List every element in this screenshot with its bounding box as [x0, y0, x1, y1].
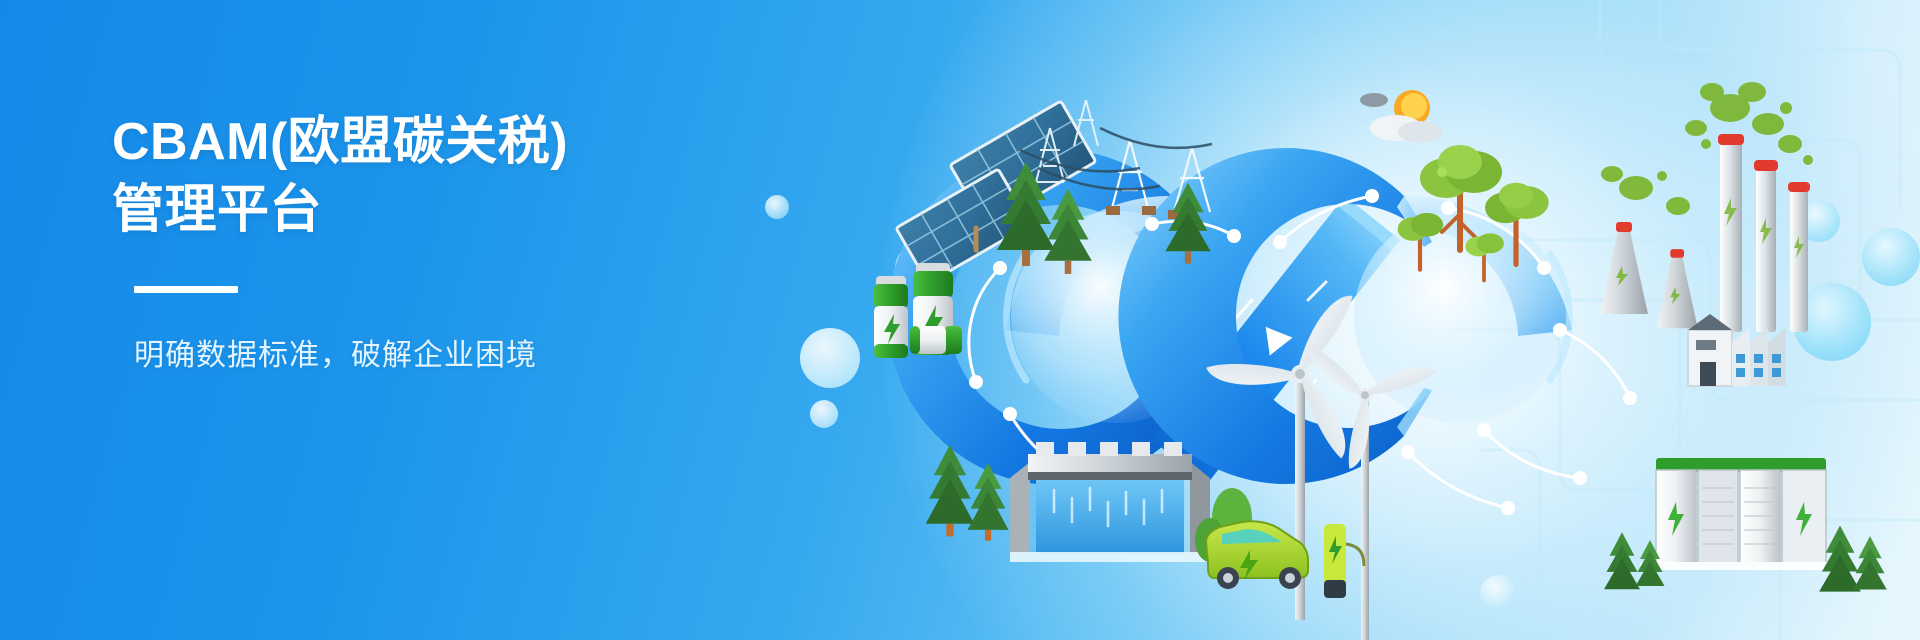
- bush: [1195, 518, 1225, 562]
- broadleaf-tree-cluster: [1398, 145, 1549, 281]
- bush: [1212, 488, 1252, 548]
- cbam-illustration: [800, 0, 1920, 640]
- page-title-line2: 管理平台: [112, 176, 812, 244]
- solar-panel-array: [896, 101, 1096, 312]
- electric-car: [1206, 521, 1364, 598]
- factory-cooling-towers: [1600, 222, 1698, 328]
- bokeh-circle: [1798, 200, 1840, 242]
- bokeh-circle: [1480, 575, 1516, 611]
- battery-storage-units: [1604, 458, 1887, 592]
- factory-building: [1688, 314, 1786, 386]
- connector-nodes: [969, 196, 1630, 508]
- ev-charging-post: [1324, 524, 1364, 598]
- ribbon-right-loop: [1118, 148, 1572, 484]
- page-title-line1: CBAM(欧盟碳关税): [112, 113, 568, 171]
- hydro-dam: [926, 442, 1252, 562]
- power-pylon: [1106, 140, 1210, 219]
- battery-pack: [874, 263, 962, 358]
- cbam-hero-banner: CBAM(欧盟碳关税) 管理平台 明确数据标准，破解企业困境: [0, 0, 1920, 640]
- hero-text-block: CBAM(欧盟碳关税) 管理平台 明确数据标准，破解企业困境: [112, 108, 812, 377]
- factory-smokestacks: [1718, 134, 1810, 332]
- connector-dots: [969, 189, 1637, 515]
- bokeh-circle: [895, 245, 935, 293]
- recycle-icon: [1250, 315, 1301, 365]
- power-pylon: [1036, 100, 1098, 182]
- bokeh-circle: [1862, 228, 1920, 286]
- ribbon-diagonal-bar: [1152, 196, 1400, 484]
- pine-tree-cluster: [997, 162, 1211, 274]
- ribbon-left-loop: [887, 149, 1223, 485]
- power-lines: [1020, 128, 1212, 189]
- background-glow: [880, 0, 1920, 640]
- bokeh-circle: [810, 400, 838, 428]
- sun-cloud: [1360, 90, 1442, 143]
- circuit-pattern-decoration: [1360, 0, 1920, 640]
- factory-smoke: [1601, 82, 1813, 215]
- wind-turbine: [1205, 294, 1437, 640]
- background-glow-secondary: [1180, 60, 1700, 580]
- title-divider: [134, 286, 238, 293]
- bokeh-circle: [1793, 283, 1871, 361]
- page-subtitle: 明确数据标准，破解企业困境: [134, 335, 812, 377]
- page-title: CBAM(欧盟碳关税) 管理平台: [112, 108, 812, 244]
